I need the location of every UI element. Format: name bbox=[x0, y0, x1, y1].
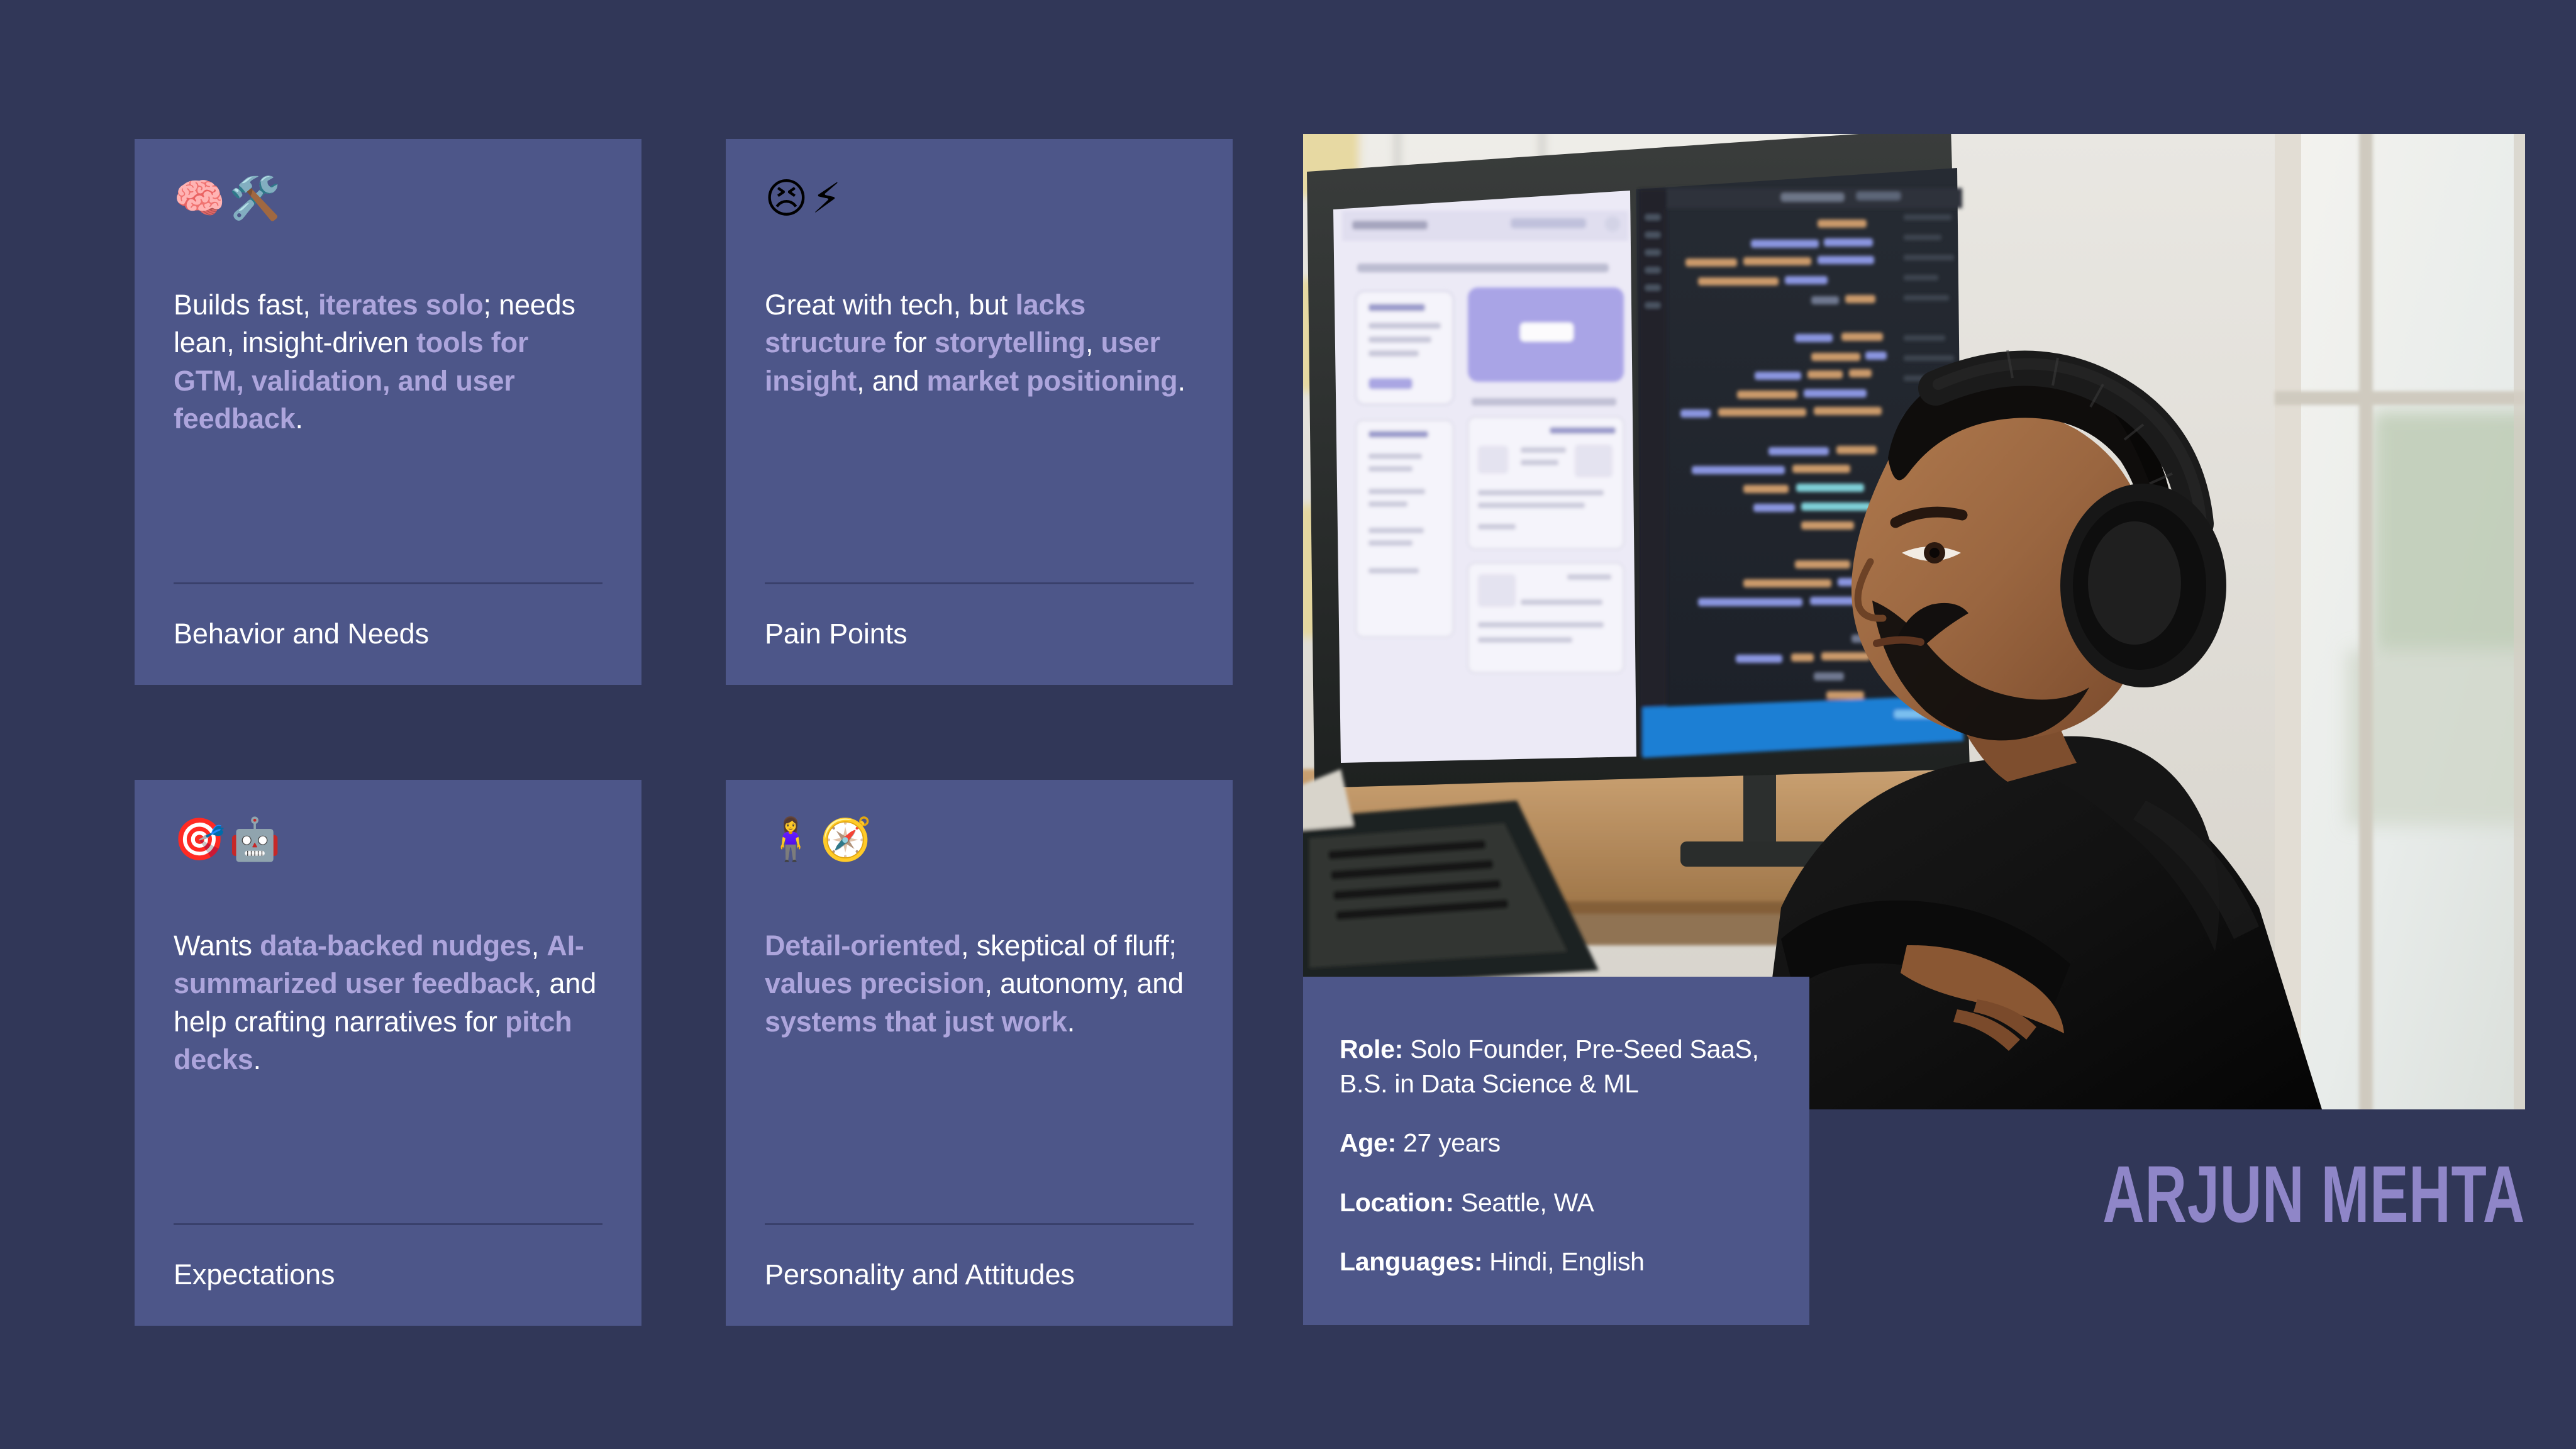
persona-card-personality-and-attitudes: 🧍‍♀️🧭 Detail-oriented, skeptical of fluf… bbox=[726, 780, 1233, 1326]
persona-card-expectations: 🎯🤖 Wants data-backed nudges, AI-summariz… bbox=[135, 780, 641, 1326]
persona-card-pain-points: 😣⚡ Great with tech, but lacks structure … bbox=[726, 139, 1233, 685]
info-row-languages: Languages: Hindi, English bbox=[1340, 1245, 1773, 1279]
accent-phrase: storytelling bbox=[935, 326, 1085, 358]
persevering-face-and-lightning-icon: 😣⚡ bbox=[765, 178, 1194, 232]
persona-photo-illustration bbox=[1303, 134, 2525, 1109]
accent-phrase: market positioning bbox=[926, 365, 1177, 397]
info-value: 27 years bbox=[1396, 1128, 1501, 1157]
persona-photo bbox=[1303, 134, 2525, 1109]
accent-phrase: pitch decks bbox=[174, 1006, 572, 1075]
accent-phrase: iterates solo bbox=[318, 289, 484, 321]
info-key: Location: bbox=[1340, 1188, 1454, 1217]
card-label: Pain Points bbox=[765, 584, 1194, 685]
persona-name: ARJUN MEHTA bbox=[1645, 1155, 2525, 1235]
card-body-text: Great with tech, but lacks structure for… bbox=[765, 286, 1194, 400]
woman-standing-and-compass-icon: 🧍‍♀️🧭 bbox=[765, 819, 1194, 873]
accent-phrase: data-backed nudges bbox=[260, 930, 531, 962]
info-key: Languages: bbox=[1340, 1247, 1482, 1276]
card-label: Behavior and Needs bbox=[174, 584, 602, 685]
brain-and-tools-icon: 🧠🛠️ bbox=[174, 178, 602, 232]
card-label: Expectations bbox=[174, 1225, 602, 1326]
info-key: Age: bbox=[1340, 1128, 1396, 1157]
accent-phrase: tools for GTM, validation, and user feed… bbox=[174, 326, 528, 435]
card-label: Personality and Attitudes bbox=[765, 1225, 1194, 1326]
bullseye-and-robot-icon: 🎯🤖 bbox=[174, 819, 602, 873]
card-body-text: Detail-oriented, skeptical of fluff; val… bbox=[765, 927, 1194, 1041]
info-value: Hindi, English bbox=[1482, 1247, 1645, 1276]
accent-phrase: systems that just work bbox=[765, 1006, 1067, 1038]
card-body-text: Builds fast, iterates solo; needs lean, … bbox=[174, 286, 602, 438]
card-body-text: Wants data-backed nudges, AI-summarized … bbox=[174, 927, 602, 1079]
persona-card-behavior-and-needs: 🧠🛠️ Builds fast, iterates solo; needs le… bbox=[135, 139, 641, 685]
info-key: Role: bbox=[1340, 1035, 1403, 1063]
accent-phrase: values precision bbox=[765, 967, 984, 999]
accent-phrase: Detail-oriented bbox=[765, 930, 961, 962]
info-row-role: Role: Solo Founder, Pre-Seed SaaS, B.S. … bbox=[1340, 1032, 1773, 1101]
info-value: Seattle, WA bbox=[1454, 1188, 1594, 1217]
persona-info-panel: Role: Solo Founder, Pre-Seed SaaS, B.S. … bbox=[1303, 977, 1809, 1325]
